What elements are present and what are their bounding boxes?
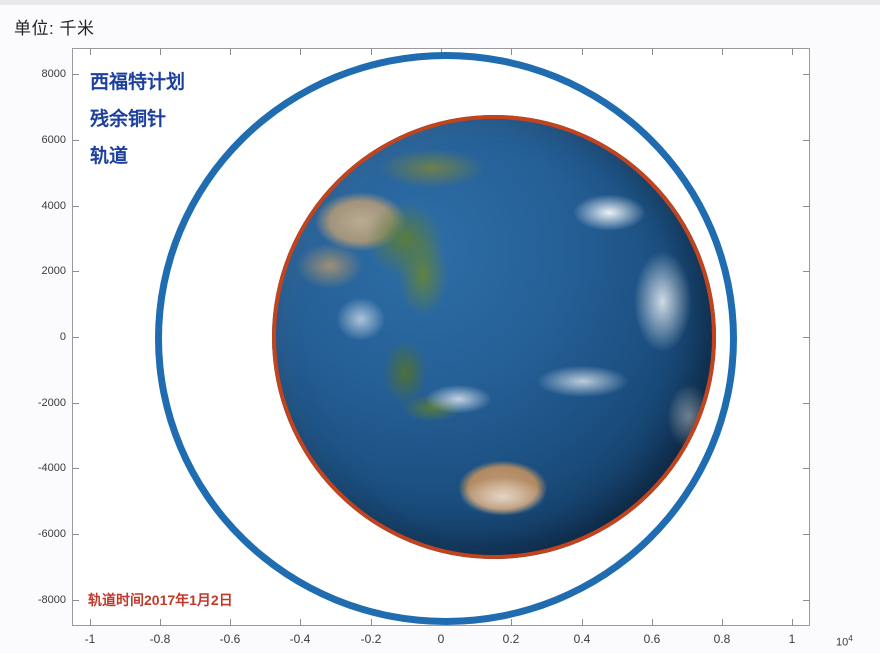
x-tick-top xyxy=(160,48,161,55)
y-tick-left xyxy=(72,600,79,601)
x-tick-label: -0.4 xyxy=(290,632,311,646)
y-tick-left xyxy=(72,206,79,207)
y-tick-right xyxy=(803,140,810,141)
y-tick-left xyxy=(72,468,79,469)
exponent-power: 4 xyxy=(848,634,852,643)
x-tick-top xyxy=(792,48,793,55)
y-tick-label: 6000 xyxy=(42,134,66,146)
y-tick-label: 0 xyxy=(60,331,66,343)
x-tick-top xyxy=(722,48,723,55)
y-tick-right xyxy=(803,271,810,272)
y-tick-label: -2000 xyxy=(38,397,66,409)
x-tick-bot xyxy=(582,619,583,626)
y-tick-right xyxy=(803,206,810,207)
epoch-annotation-label: 轨道时间2017年1月2日 xyxy=(88,590,233,610)
y-tick-right xyxy=(803,74,810,75)
figure-unit-title: 单位: 千米 xyxy=(14,14,94,39)
y-tick-right xyxy=(803,337,810,338)
x-tick-top xyxy=(511,48,512,55)
earth-outline-circle xyxy=(272,115,716,559)
x-tick-label: -0.8 xyxy=(150,632,171,646)
x-tick-bot xyxy=(90,619,91,626)
x-tick-label: 0 xyxy=(438,632,445,646)
y-tick-right xyxy=(803,468,810,469)
y-tick-label: 8000 xyxy=(42,68,66,80)
x-tick-label: -1 xyxy=(85,632,96,646)
x-tick-top xyxy=(582,48,583,55)
x-tick-label: 0.2 xyxy=(503,632,520,646)
x-tick-label: 1 xyxy=(789,632,796,646)
y-tick-left xyxy=(72,74,79,75)
orbit-annotation-line-2: 残余铜针 xyxy=(90,101,185,138)
earth-globe xyxy=(272,115,716,559)
y-tick-left xyxy=(72,140,79,141)
orbit-annotation-line-1: 西福特计划 xyxy=(90,64,185,101)
y-tick-label: 2000 xyxy=(42,265,66,277)
y-tick-right xyxy=(803,403,810,404)
x-tick-top xyxy=(371,48,372,55)
y-tick-label: -8000 xyxy=(38,594,66,606)
exponent-base: 10 xyxy=(836,637,848,649)
x-tick-label: 0.8 xyxy=(714,632,731,646)
x-axis-exponent-label: 104 xyxy=(836,634,853,649)
x-tick-bot xyxy=(722,619,723,626)
window-top-strip xyxy=(0,0,880,5)
y-tick-right xyxy=(803,600,810,601)
x-tick-bot xyxy=(652,619,653,626)
x-tick-top xyxy=(652,48,653,55)
x-tick-bot xyxy=(230,619,231,626)
x-tick-bot xyxy=(511,619,512,626)
x-tick-bot xyxy=(160,619,161,626)
y-tick-label: 4000 xyxy=(42,200,66,212)
x-tick-label: 0.4 xyxy=(574,632,591,646)
figure-window: 单位: 千米 80006000400020000-2000-4000-6000-… xyxy=(0,0,880,653)
x-tick-top xyxy=(90,48,91,55)
x-tick-label: -0.2 xyxy=(361,632,382,646)
x-tick-bot xyxy=(371,619,372,626)
y-tick-right xyxy=(803,534,810,535)
x-tick-bot xyxy=(792,619,793,626)
x-tick-bot xyxy=(300,619,301,626)
y-tick-left xyxy=(72,403,79,404)
x-tick-top xyxy=(300,48,301,55)
x-tick-label: 0.6 xyxy=(644,632,661,646)
y-tick-left xyxy=(72,534,79,535)
y-tick-left xyxy=(72,337,79,338)
x-tick-top xyxy=(230,48,231,55)
y-tick-label: -6000 xyxy=(38,528,66,540)
orbit-annotation-line-3: 轨道 xyxy=(90,138,185,175)
orbit-annotation-label: 西福特计划 残余铜针 轨道 xyxy=(90,64,185,175)
x-tick-label: -0.6 xyxy=(220,632,241,646)
y-tick-left xyxy=(72,271,79,272)
y-tick-label: -4000 xyxy=(38,462,66,474)
